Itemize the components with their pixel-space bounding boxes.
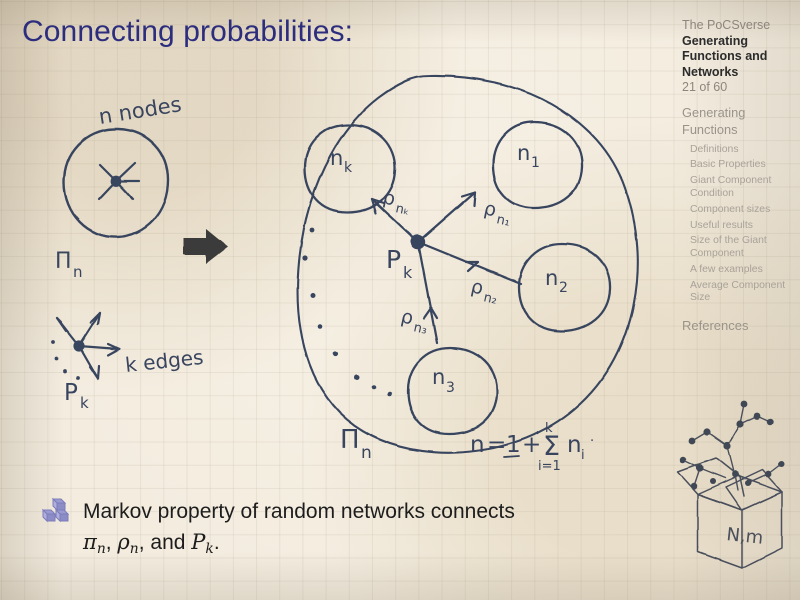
and-text: , and <box>139 531 192 554</box>
page-indicator: 21 of 60 <box>682 80 794 96</box>
sidebar-item-label: Size of the Giant Component <box>690 235 767 258</box>
sidebar-item-a-few-examples[interactable]: A few examples <box>690 264 794 276</box>
sidebar-item-label: Definitions <box>690 144 739 155</box>
sidebar-book-series: The PoCSverse <box>682 18 794 34</box>
sidebar-item-useful-results[interactable]: Useful results <box>690 220 794 232</box>
sidebar-item-component-sizes[interactable]: Component sizes <box>690 204 794 216</box>
sidebar-nav-list: Definitions Basic Properties Giant Compo… <box>682 144 794 305</box>
sidebar-item-giant-component-condition[interactable]: Giant Component Condition <box>690 175 794 200</box>
sidebar-item-definitions[interactable]: Definitions <box>690 144 794 156</box>
bullet-block: Markov property of random networks conne… <box>40 497 640 564</box>
bullet-text: Markov property of random networks conne… <box>83 497 515 564</box>
math-rho: ρ <box>117 530 129 554</box>
sidebar-item-references[interactable]: References <box>682 318 794 334</box>
sidebar-item-label: Basic Properties <box>690 159 766 170</box>
sidebar-item-basic-properties[interactable]: Basic Properties <box>690 159 794 171</box>
math-pi-sub: n <box>97 541 106 557</box>
sidebar-item-label-active: Component sizes <box>690 204 770 215</box>
bullet-line-1: Markov property of random networks conne… <box>83 500 515 523</box>
math-rho-sub: n <box>130 541 139 557</box>
sidebar-item-label: A few examples <box>690 264 763 275</box>
sidebar-section-line-2[interactable]: Functions <box>682 122 794 138</box>
sidebar-section-line-1[interactable]: Generating <box>682 105 794 121</box>
sidebar-item-label: Giant Component Condition <box>690 175 771 198</box>
sidebar-item-average-component-size[interactable]: Average Component Size <box>690 280 794 305</box>
page-title: Connecting probabilities: <box>22 14 353 50</box>
cubes-icon <box>40 497 70 525</box>
period: . <box>214 531 220 554</box>
math-pi: π <box>83 530 97 554</box>
sidebar-book-title-line-2: Functions and <box>682 49 794 65</box>
sidebar-item-label: Useful results <box>690 220 753 231</box>
sidebar-item-size-of-the-giant-component[interactable]: Size of the Giant Component <box>690 235 794 260</box>
sidebar-book-title-line-1: Generating <box>682 34 794 50</box>
comma-1: , <box>106 531 118 554</box>
math-P-sub: k <box>205 541 213 557</box>
math-P: P <box>191 530 205 554</box>
sidebar-item-label: Average Component Size <box>690 280 785 303</box>
sidebar: The PoCSverse Generating Functions and N… <box>672 0 800 600</box>
sidebar-book-title-line-3: Networks <box>682 65 794 81</box>
